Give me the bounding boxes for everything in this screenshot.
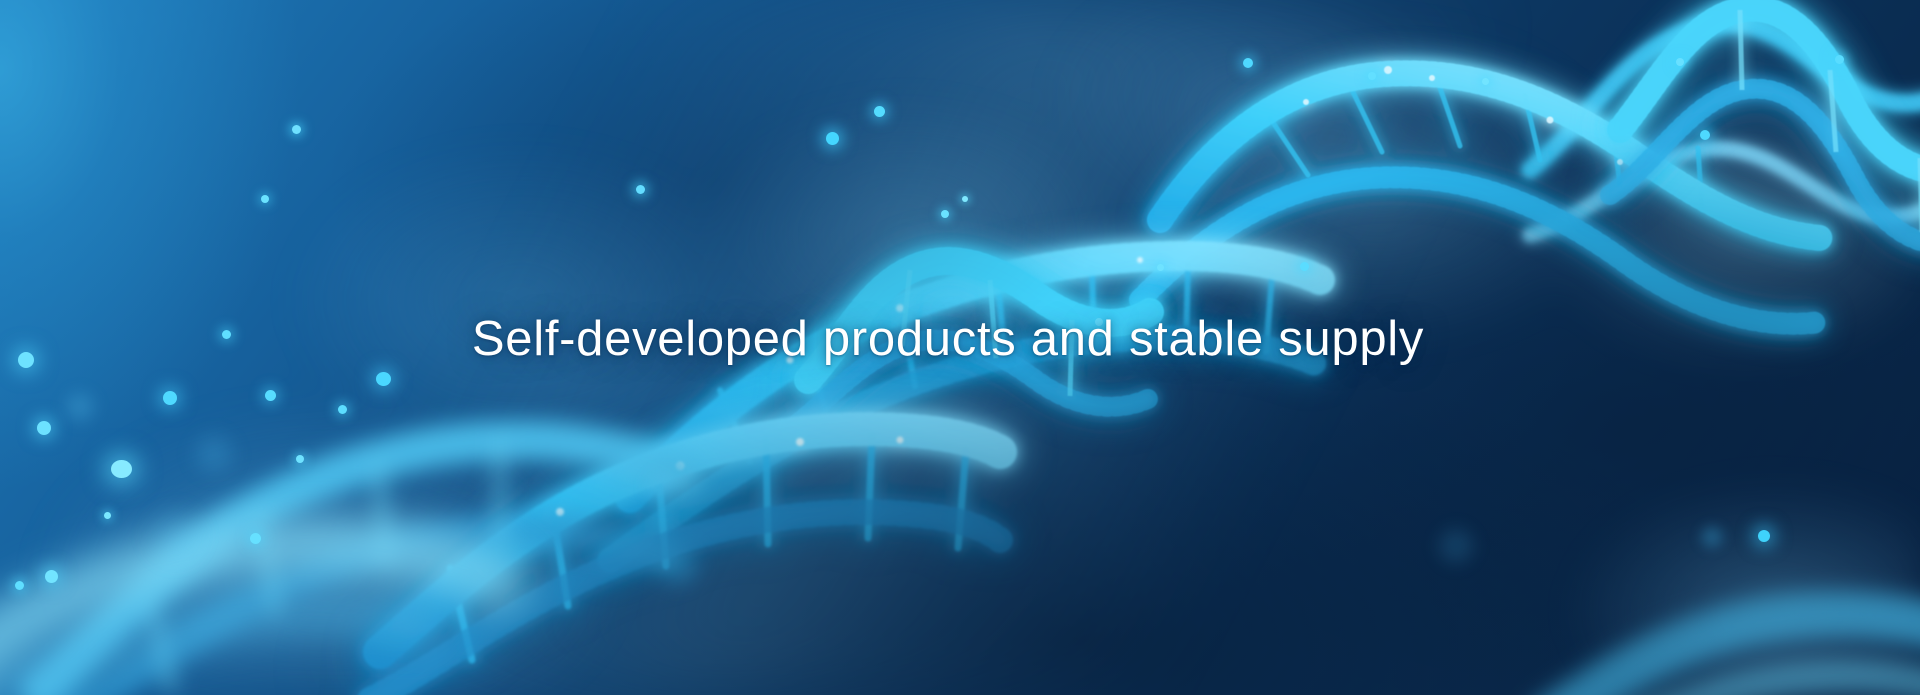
hero-banner: Self-developed products and stable suppl… <box>0 0 1920 695</box>
headline-container: Self-developed products and stable suppl… <box>0 0 1920 695</box>
banner-headline: Self-developed products and stable suppl… <box>472 311 1424 367</box>
